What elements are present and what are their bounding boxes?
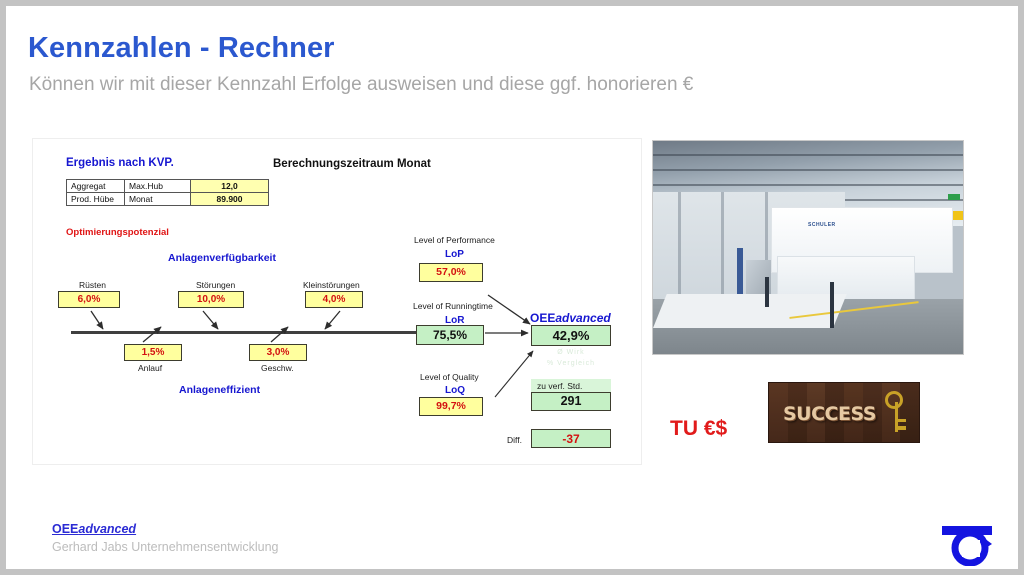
photo-beam (653, 169, 963, 171)
diagram-arrows (33, 139, 641, 464)
success-graphic: SUCCESS (768, 382, 920, 443)
wood-plank (900, 383, 920, 442)
level-1-caption: Level of Runningtime (413, 301, 493, 311)
footer-link-bold: OEE (52, 522, 78, 536)
oee-title-bold: OEE (530, 311, 555, 325)
difference-value: -37 (531, 429, 611, 448)
photo-beam (653, 154, 963, 156)
difference-label: Diff. (507, 435, 522, 445)
gjb-cycle-logo (940, 518, 998, 566)
photo-floor-light-area (653, 294, 847, 328)
tu-currency-text: TU €$ (670, 417, 727, 441)
oee-title-italic: advanced (555, 311, 610, 325)
level-2-abbr: LoQ (445, 385, 465, 396)
photo-machine-logo: SCHULER (808, 222, 836, 228)
level-1-value: 75,5% (416, 325, 484, 345)
photo-exit-sign (948, 194, 960, 200)
photo-beam (653, 184, 963, 186)
available-hours-caption: zu verf. Std. (537, 381, 582, 391)
ghost-text-2: % Vergleich (531, 360, 611, 367)
level-0-abbr: LoP (445, 249, 464, 260)
oee-result-value: 42,9% (531, 325, 611, 346)
key-icon (885, 391, 903, 409)
photo-bollard (765, 277, 769, 307)
photo-wall-column (678, 192, 681, 299)
ghost-text-1: Ø Wirk (531, 349, 611, 356)
page-title: Kennzahlen - Rechner (28, 32, 335, 65)
level-0-caption: Level of Performance (414, 235, 495, 245)
page-subtitle: Können wir mit dieser Kennzahl Erfolge a… (29, 74, 693, 96)
footer-link[interactable]: OEEadvanced (52, 522, 136, 536)
level-2-value: 99,7% (419, 397, 483, 416)
slide-canvas: Kennzahlen - Rechner Können wir mit dies… (6, 6, 1018, 569)
key-bit-icon (895, 426, 906, 430)
level-0-value: 57,0% (419, 263, 483, 282)
key-bit-icon (898, 419, 906, 422)
available-hours-caption-bg: zu verf. Std. (531, 379, 611, 392)
factory-hall-photo: SCHULER (652, 140, 964, 355)
photo-wall-column (721, 192, 724, 299)
photo-bollard (830, 282, 834, 329)
oee-calculator-diagram: Ergebnis nach KVP. Berechnungszeitraum M… (32, 138, 642, 465)
photo-blue-frame (737, 248, 743, 299)
available-hours-value: 291 (531, 392, 611, 411)
footer-link-italic: advanced (78, 522, 136, 536)
success-word: SUCCESS (783, 403, 876, 425)
level-2-caption: Level of Quality (420, 372, 479, 382)
oee-result-title: OEEadvanced (530, 311, 611, 325)
footer-company: Gerhard Jabs Unternehmensentwicklung (52, 540, 279, 554)
